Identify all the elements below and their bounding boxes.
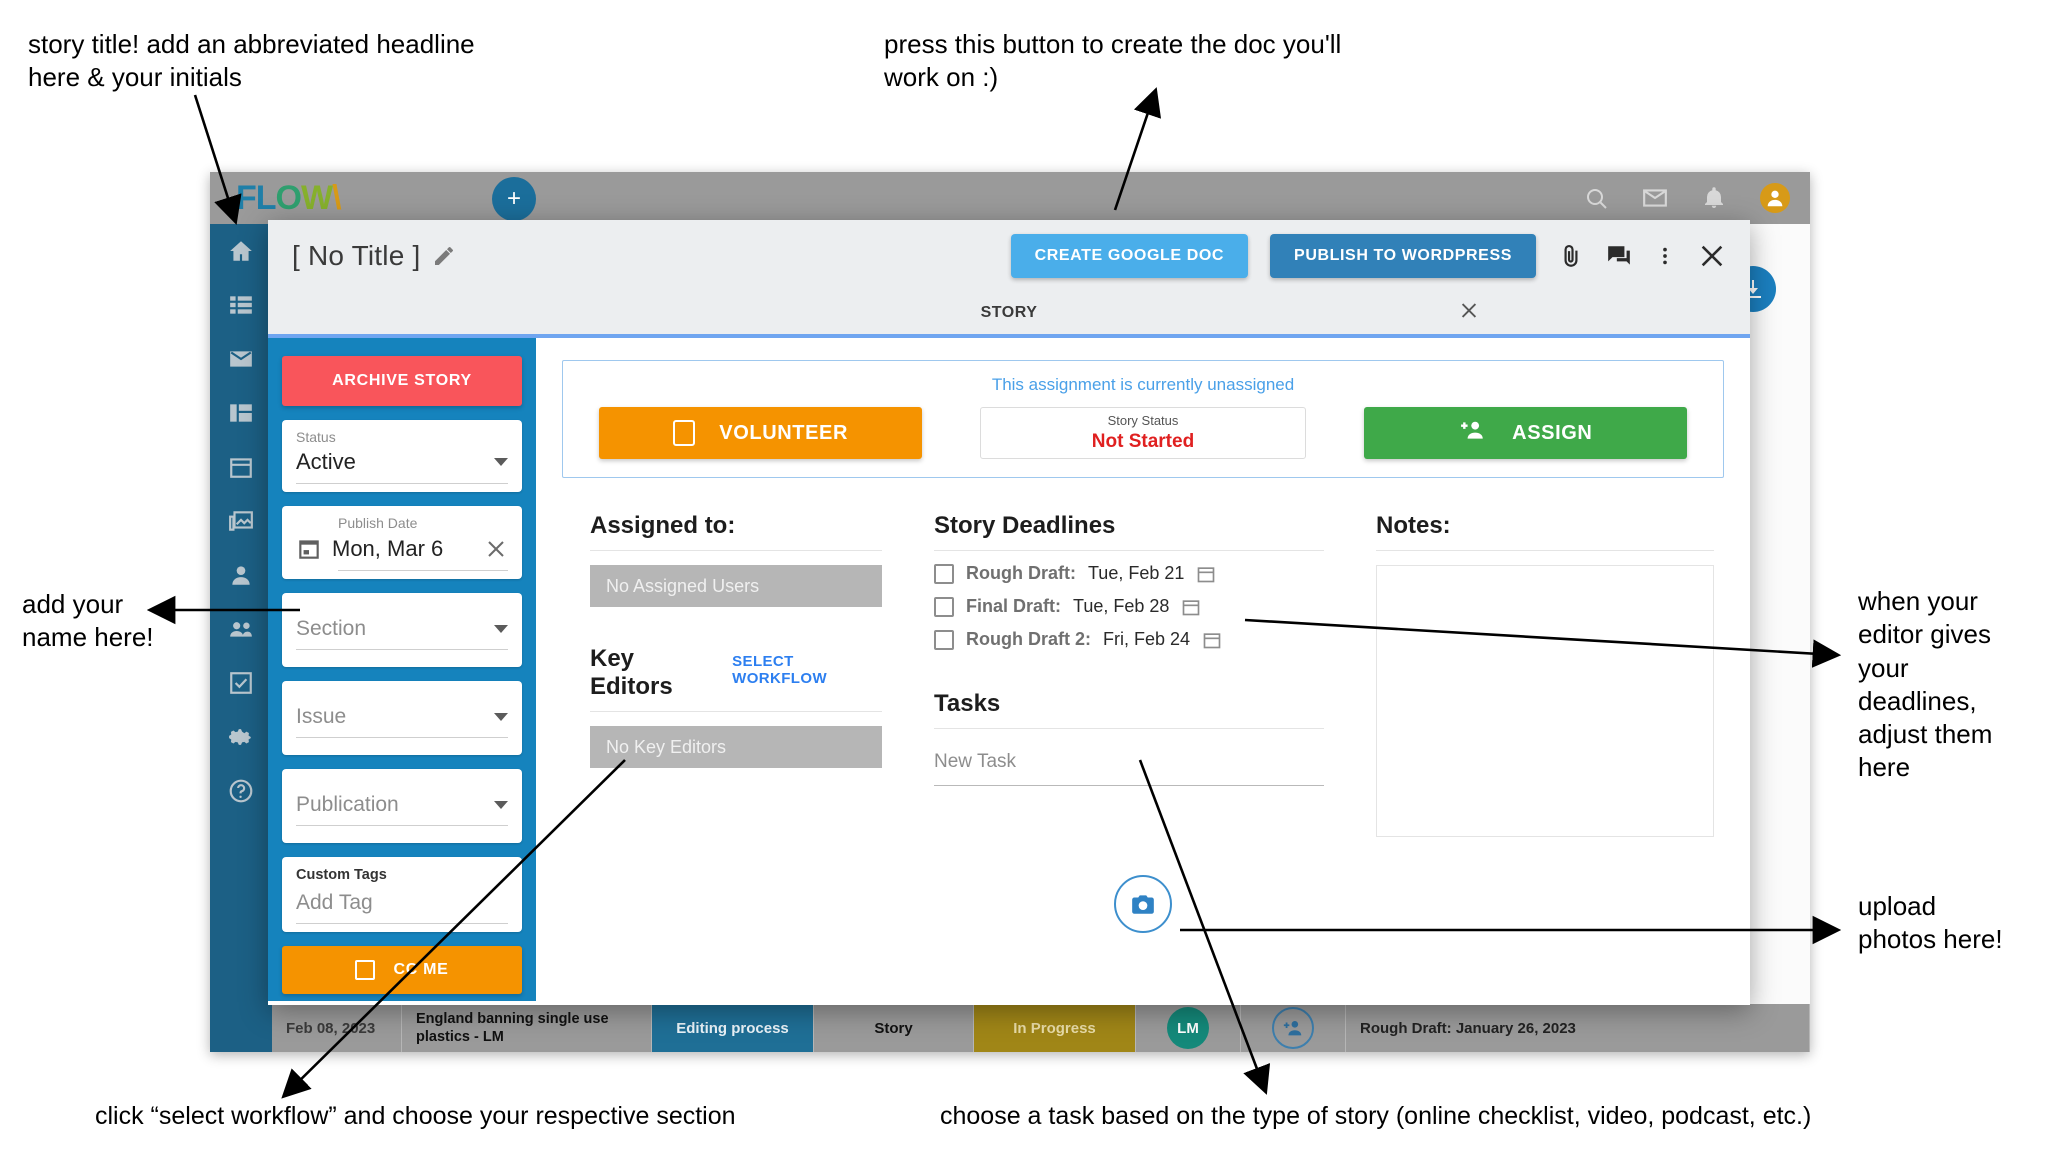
assign-button[interactable]: ASSIGN: [1364, 407, 1687, 459]
sidebar-item-mail[interactable]: [228, 346, 254, 372]
field-underline: [296, 737, 508, 738]
deadline-item[interactable]: Rough Draft 2: Fri, Feb 24: [934, 629, 1324, 650]
archive-story-button[interactable]: ARCHIVE STORY: [282, 356, 522, 406]
sidebar-item-dashboard[interactable]: [228, 400, 254, 426]
modal-tabbar: STORY: [268, 292, 1750, 338]
checkbox-icon[interactable]: [934, 597, 954, 617]
status-value: Active: [296, 449, 356, 475]
notes-textarea[interactable]: [1376, 565, 1714, 837]
row-progress: In Progress: [974, 1004, 1136, 1052]
avatar: LM: [1167, 1007, 1209, 1049]
new-task-input[interactable]: New Task: [934, 751, 1324, 786]
tab-story[interactable]: STORY: [981, 304, 1038, 322]
publish-date-field[interactable]: Publish Date Mon, Mar 6: [282, 506, 522, 578]
cc-me-button[interactable]: CC ME: [282, 946, 522, 994]
add-story-button[interactable]: +: [492, 177, 536, 221]
deadline-name: Rough Draft 2:: [966, 629, 1091, 650]
story-content-panel: This assignment is currently unassigned …: [536, 338, 1750, 1001]
add-person-icon: [1458, 417, 1488, 449]
chevron-down-icon[interactable]: [494, 713, 508, 721]
publish-date-value: Mon, Mar 6: [332, 536, 443, 562]
mail-icon[interactable]: [1642, 185, 1668, 211]
section-field[interactable]: Section: [282, 593, 522, 667]
camera-icon[interactable]: [1114, 875, 1172, 933]
issue-placeholder: Issue: [296, 705, 346, 729]
assignment-box: This assignment is currently unassigned …: [562, 360, 1724, 478]
volunteer-button[interactable]: VOLUNTEER: [599, 407, 922, 459]
close-icon[interactable]: [1698, 242, 1726, 270]
page-title: [ No Title ]: [292, 240, 420, 272]
chevron-down-icon[interactable]: [494, 458, 508, 466]
issue-field[interactable]: Issue: [282, 681, 522, 755]
row-avatar-cell: LM: [1136, 1004, 1241, 1052]
sidebar-item-help[interactable]: [228, 778, 254, 804]
table-row[interactable]: Feb 08, 2023 England banning single use …: [272, 1004, 1810, 1052]
row-deadline: Rough Draft: January 26, 2023: [1346, 1004, 1810, 1052]
publish-to-wordpress-button[interactable]: PUBLISH TO WORDPRESS: [1270, 234, 1536, 278]
volunteer-label: VOLUNTEER: [719, 422, 848, 445]
comment-icon[interactable]: [1606, 243, 1632, 269]
checkbox-icon: [673, 420, 695, 446]
sidebar-item-calendar[interactable]: [228, 454, 254, 480]
divider: [1376, 550, 1714, 551]
plus-icon: +: [507, 187, 521, 211]
divider: [590, 550, 882, 551]
key-editors-heading-row: Key Editors SELECT WORKFLOW: [590, 645, 882, 701]
checkbox-icon[interactable]: [934, 564, 954, 584]
annotation-story-title: story title! add an abbreviated headline…: [28, 28, 648, 95]
deadline-item[interactable]: Rough Draft: Tue, Feb 21: [934, 563, 1324, 584]
deadline-date: Tue, Feb 21: [1088, 563, 1184, 584]
attachment-icon[interactable]: [1558, 243, 1584, 269]
assignment-note: This assignment is currently unassigned: [599, 375, 1687, 395]
add-person-icon[interactable]: [1272, 1007, 1314, 1049]
annotation-upload-photos: upload photos here!: [1858, 890, 2048, 957]
custom-tags-field[interactable]: Custom Tags Add Tag: [282, 857, 522, 932]
divider: [590, 711, 882, 712]
annotation-choose-task: choose a task based on the type of story…: [940, 1100, 2040, 1132]
sidebar-item-list[interactable]: [228, 292, 254, 318]
row-process: Editing process: [652, 1004, 814, 1052]
field-underline: [296, 483, 508, 484]
assigned-to-heading: Assigned to:: [590, 512, 882, 540]
deadline-date: Tue, Feb 28: [1073, 596, 1169, 617]
publication-placeholder: Publication: [296, 793, 399, 817]
field-underline: [296, 923, 508, 924]
story-form-panel: ARCHIVE STORY Status Active Publish Date: [268, 338, 536, 1001]
divider: [934, 550, 1324, 551]
key-editors-heading: Key Editors: [590, 645, 714, 701]
chevron-down-icon[interactable]: [494, 801, 508, 809]
annotation-add-your-name: add your name here!: [22, 588, 252, 655]
sidebar-item-photos[interactable]: [228, 508, 254, 534]
search-icon[interactable]: [1584, 186, 1608, 210]
divider: [934, 785, 1324, 786]
select-workflow-link[interactable]: SELECT WORKFLOW: [732, 653, 882, 687]
app-topbar: FLOW\ +: [210, 172, 1810, 224]
section-placeholder: Section: [296, 617, 366, 641]
story-modal: [ No Title ] CREATE GOOGLE DOC PUBLISH T…: [268, 220, 1750, 1005]
field-underline: [296, 649, 508, 650]
clear-date-icon[interactable]: [484, 537, 508, 561]
status-label: Status: [296, 430, 508, 445]
app-logo: FLOW\: [236, 179, 341, 218]
story-status-value: Not Started: [1092, 431, 1194, 453]
story-status-box: Story Status Not Started: [980, 407, 1305, 459]
row-date: Feb 08, 2023: [272, 1004, 402, 1052]
annotation-deadlines: when your editor gives your deadlines, a…: [1858, 585, 2048, 785]
chevron-down-icon[interactable]: [494, 625, 508, 633]
sidebar-item-home[interactable]: [228, 238, 254, 264]
story-deadlines-heading: Story Deadlines: [934, 512, 1324, 540]
add-tag-input[interactable]: Add Tag: [296, 891, 373, 915]
row-title: England banning single use plastics - LM: [402, 1004, 652, 1052]
new-task-placeholder: New Task: [934, 751, 1324, 773]
cc-me-label: CC ME: [393, 961, 448, 979]
custom-tags-label: Custom Tags: [296, 867, 508, 883]
story-status-label: Story Status: [1108, 413, 1179, 428]
sidebar-item-tasks[interactable]: [228, 670, 254, 696]
pencil-icon[interactable]: [432, 244, 456, 268]
deadline-date: Fri, Feb 24: [1103, 629, 1190, 650]
checkbox-icon: [355, 960, 375, 980]
bell-icon[interactable]: [1702, 186, 1726, 210]
sidebar-item-person[interactable]: [228, 562, 254, 588]
annotation-create-doc: press this button to create the doc you'…: [884, 28, 1504, 95]
account-icon[interactable]: [1760, 183, 1790, 213]
row-type: Story: [814, 1004, 974, 1052]
status-field[interactable]: Status Active: [282, 420, 522, 492]
field-underline: [296, 825, 508, 826]
annotation-select-workflow: click “select workflow” and choose your …: [95, 1100, 935, 1132]
deadline-name: Final Draft:: [966, 596, 1061, 617]
notes-heading: Notes:: [1376, 512, 1714, 540]
calendar-icon[interactable]: [1202, 630, 1222, 650]
create-google-doc-button[interactable]: CREATE GOOGLE DOC: [1011, 234, 1248, 278]
sidebar-item-settings[interactable]: [228, 724, 254, 750]
calendar-icon[interactable]: [1196, 564, 1216, 584]
checkbox-icon[interactable]: [934, 630, 954, 650]
tab-close-icon[interactable]: [1458, 300, 1480, 327]
publish-date-label: Publish Date: [296, 516, 508, 531]
calendar-icon[interactable]: [296, 536, 322, 562]
assign-label: ASSIGN: [1512, 422, 1592, 445]
assigned-users-empty[interactable]: No Assigned Users: [590, 565, 882, 607]
key-editors-empty[interactable]: No Key Editors: [590, 726, 882, 768]
divider: [934, 728, 1324, 729]
tasks-heading: Tasks: [934, 690, 1324, 718]
deadline-name: Rough Draft:: [966, 563, 1076, 584]
calendar-icon[interactable]: [1181, 597, 1201, 617]
deadline-item[interactable]: Final Draft: Tue, Feb 28: [934, 596, 1324, 617]
row-add-person-cell[interactable]: [1241, 1004, 1346, 1052]
field-underline: [338, 570, 508, 571]
publication-field[interactable]: Publication: [282, 769, 522, 843]
more-vert-icon[interactable]: [1654, 243, 1676, 269]
modal-header: [ No Title ] CREATE GOOGLE DOC PUBLISH T…: [268, 220, 1750, 292]
